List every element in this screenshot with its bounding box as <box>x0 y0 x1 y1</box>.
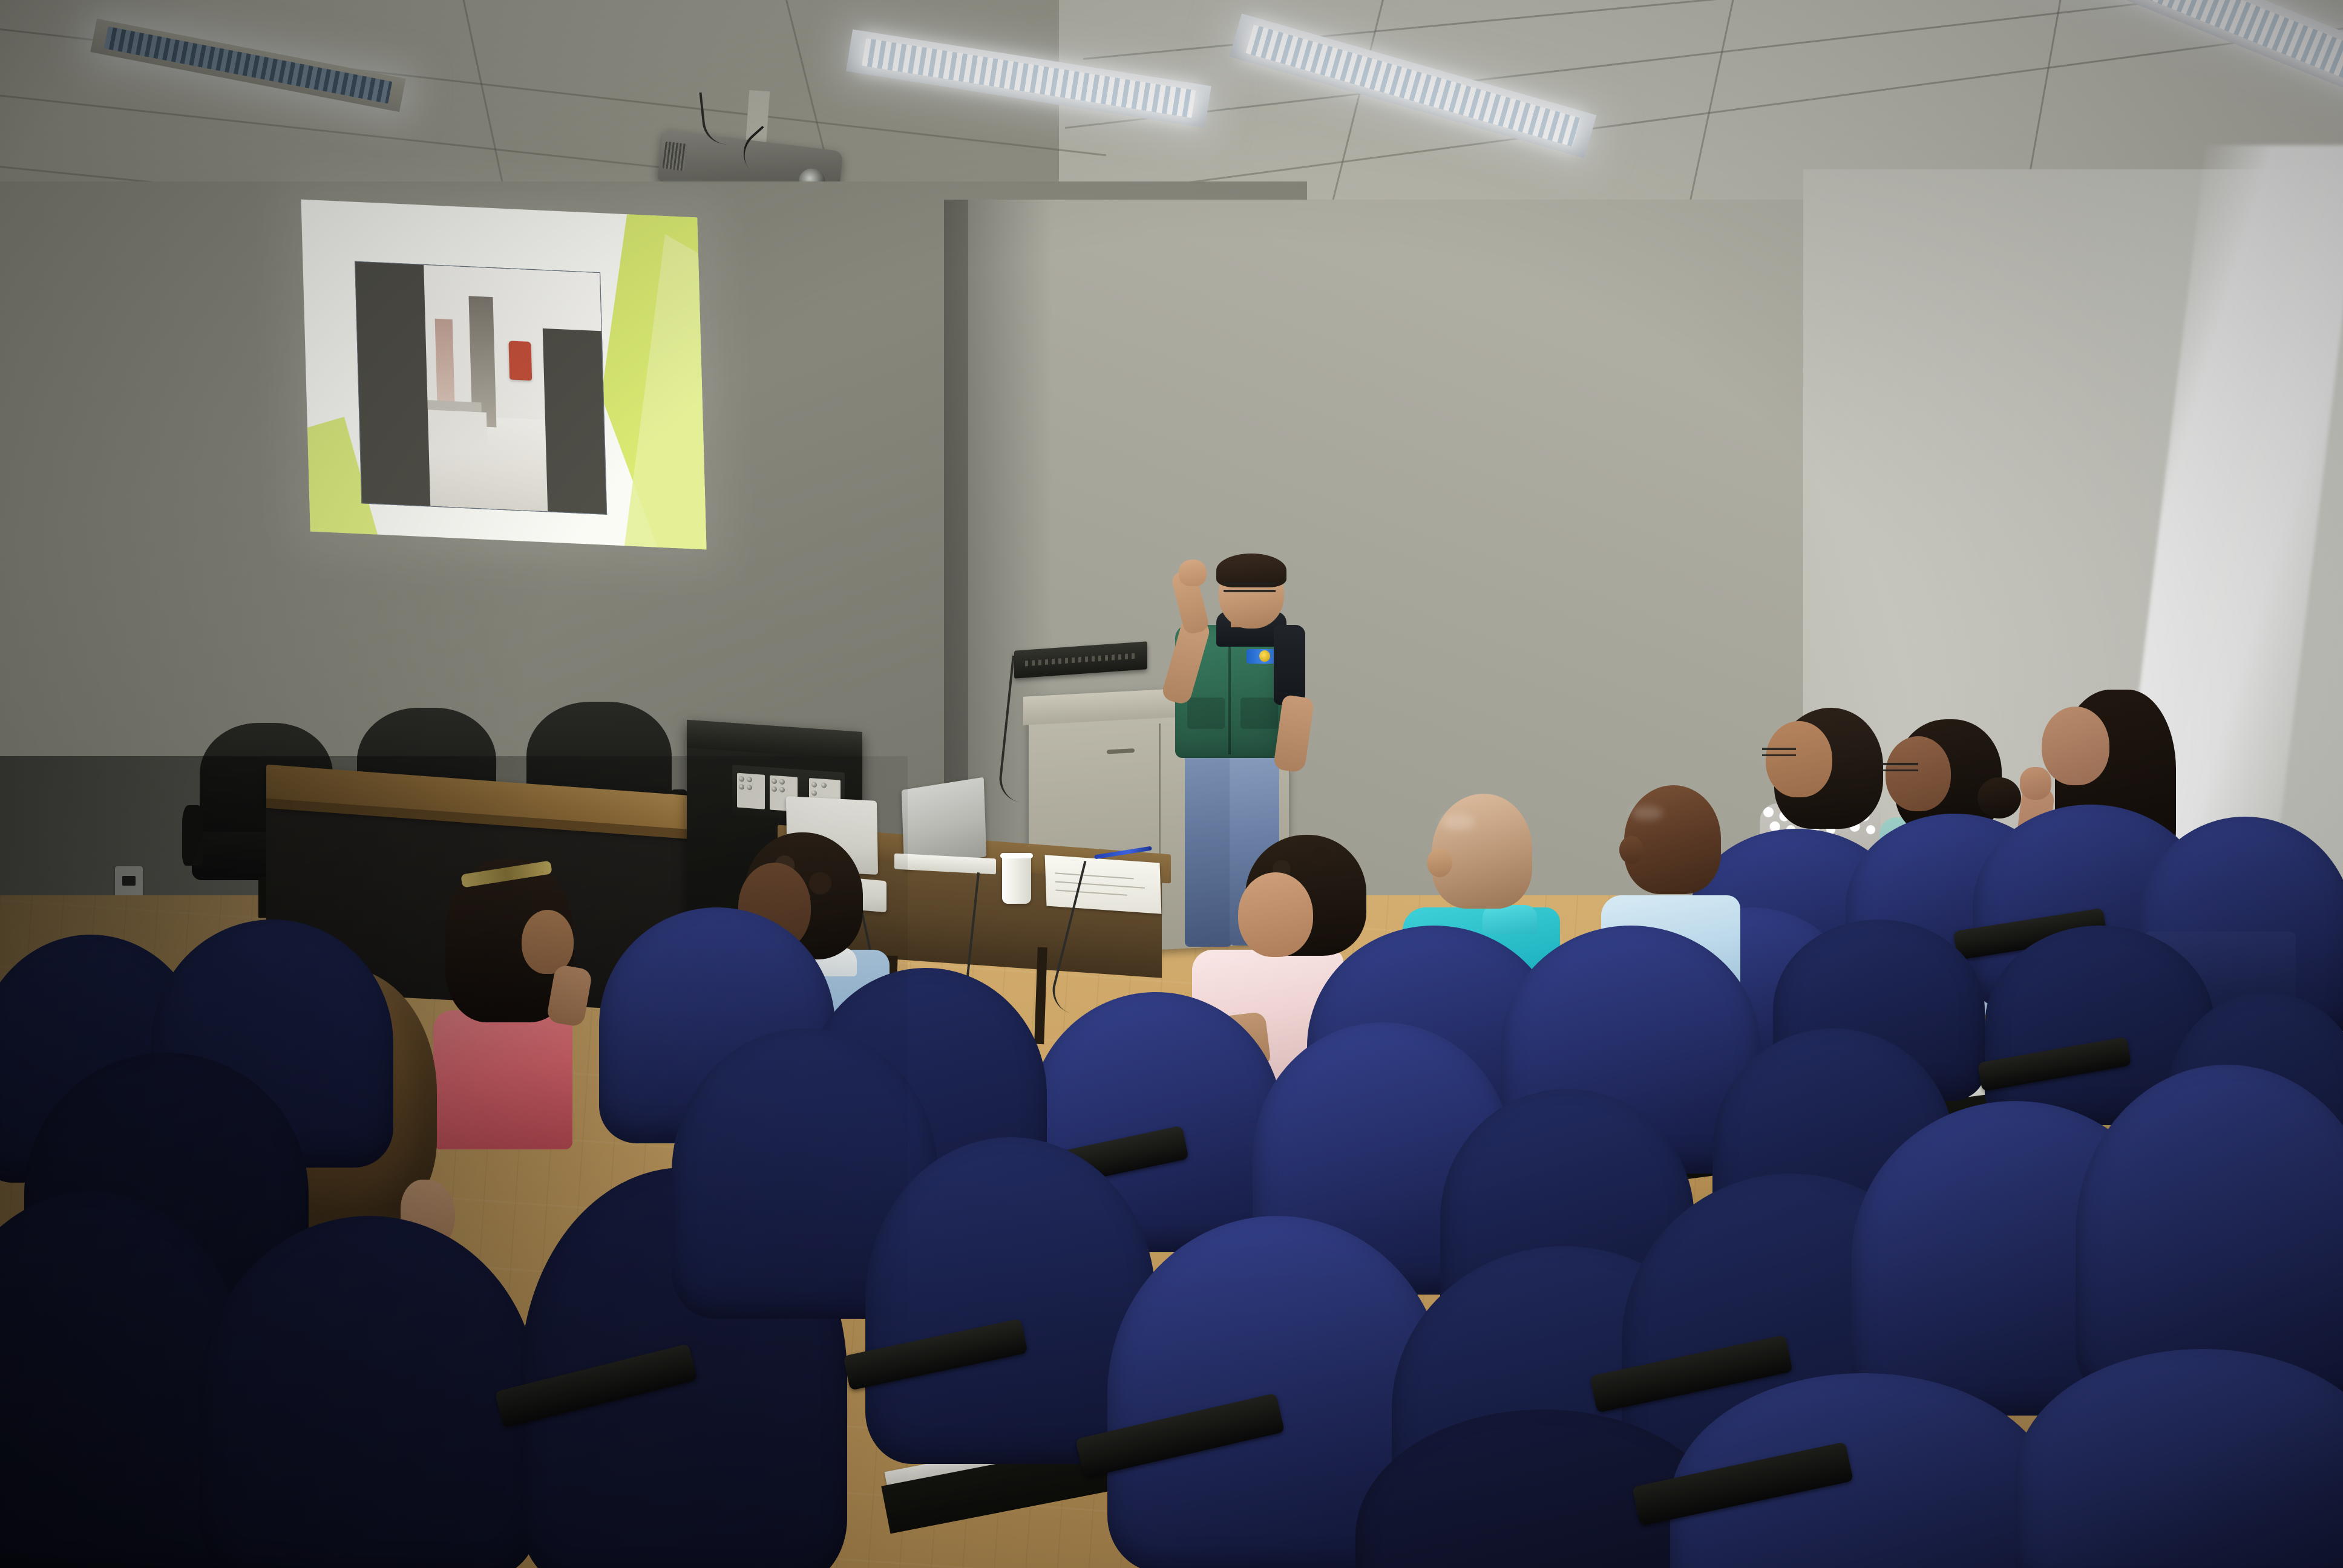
seat-back <box>200 1216 539 1568</box>
presenter-hand-gesture <box>1179 560 1207 586</box>
knob-icon[interactable] <box>811 790 817 796</box>
head-highlight <box>1631 806 1663 820</box>
wall-outlet[interactable] <box>115 866 143 898</box>
presentation-slide <box>301 200 706 550</box>
slide-photo-mask-left <box>355 262 430 506</box>
attendee-head <box>1766 721 1832 797</box>
panel-plate <box>737 773 765 809</box>
auditorium-seat[interactable] <box>200 1216 539 1568</box>
knob-icon[interactable] <box>779 779 785 785</box>
knob-icon[interactable] <box>747 785 752 791</box>
projection-screen <box>301 200 706 550</box>
seat-back <box>2015 1349 2343 1568</box>
knob-icon[interactable] <box>779 787 785 793</box>
head-highlight <box>1441 814 1475 830</box>
presenter-logo-emblem-icon <box>1259 650 1270 662</box>
presenter-vest-seam <box>1228 630 1231 754</box>
glasses-icon <box>1881 763 1918 771</box>
attendee-ear <box>1619 836 1643 864</box>
auditorium-seat[interactable] <box>1670 1373 2057 1568</box>
attendee-head <box>522 910 574 974</box>
attendee-head <box>2042 707 2109 785</box>
knob-icon[interactable] <box>811 782 817 788</box>
glasses-icon <box>1762 748 1796 756</box>
presenter-polo-sleeve <box>1274 625 1305 705</box>
auditorium-photograph: DIO <box>0 0 2343 1568</box>
presenter-vest-pocket <box>1187 697 1225 729</box>
knob-icon[interactable] <box>772 779 777 785</box>
chair-armrest <box>182 805 203 865</box>
attendee-ear <box>1427 848 1452 877</box>
glasses-icon <box>1224 583 1276 592</box>
knob-icon[interactable] <box>772 786 777 792</box>
knob-icon[interactable] <box>739 784 744 790</box>
attendee-hand <box>2020 767 2051 800</box>
slide-photo-corridor <box>355 261 607 515</box>
slide-photo-mask-right <box>543 328 606 514</box>
knob-icon[interactable] <box>747 777 752 783</box>
knob-icon[interactable] <box>821 783 827 789</box>
attendee-head <box>1886 736 1951 811</box>
fire-extinguisher-icon <box>509 341 532 381</box>
attendee-head <box>1238 872 1313 957</box>
projector-vent <box>663 142 687 171</box>
corridor-sill <box>428 410 488 451</box>
auditorium-seat[interactable] <box>2015 1349 2343 1568</box>
presenter-vest-pocket <box>1240 697 1278 729</box>
av-cabinet-handle[interactable] <box>1107 748 1135 754</box>
knob-icon[interactable] <box>739 776 744 782</box>
